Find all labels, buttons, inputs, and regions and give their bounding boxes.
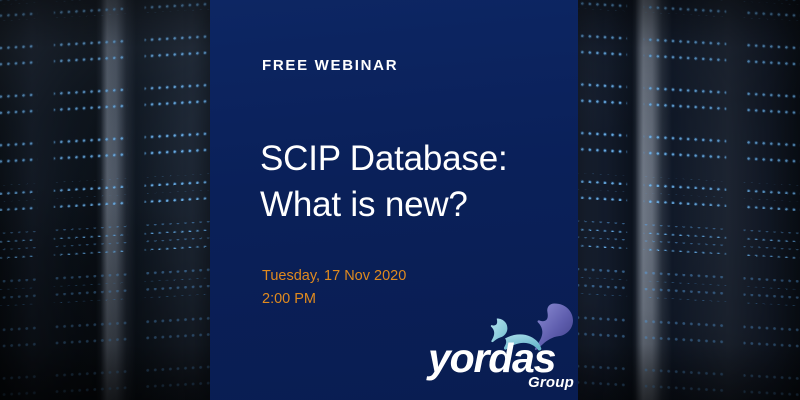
event-date: Tuesday, 17 Nov 2020	[262, 265, 406, 288]
yordas-group-logo: yordas Group	[428, 300, 578, 392]
content-panel: FREE WEBINAR SCIP Database: What is new?…	[210, 0, 578, 400]
event-datetime: Tuesday, 17 Nov 2020 2:00 PM	[262, 265, 406, 312]
title-line-1: SCIP Database:	[260, 136, 508, 182]
page-title: SCIP Database: What is new?	[260, 136, 508, 228]
eyebrow-label: FREE WEBINAR	[262, 57, 398, 74]
logo-wordmark: yordas	[428, 338, 578, 379]
webinar-promo-poster: FREE WEBINAR SCIP Database: What is new?…	[0, 0, 800, 400]
title-line-2: What is new?	[260, 182, 508, 228]
event-time: 2:00 PM	[262, 288, 406, 311]
logo-subtitle: Group	[528, 374, 574, 391]
